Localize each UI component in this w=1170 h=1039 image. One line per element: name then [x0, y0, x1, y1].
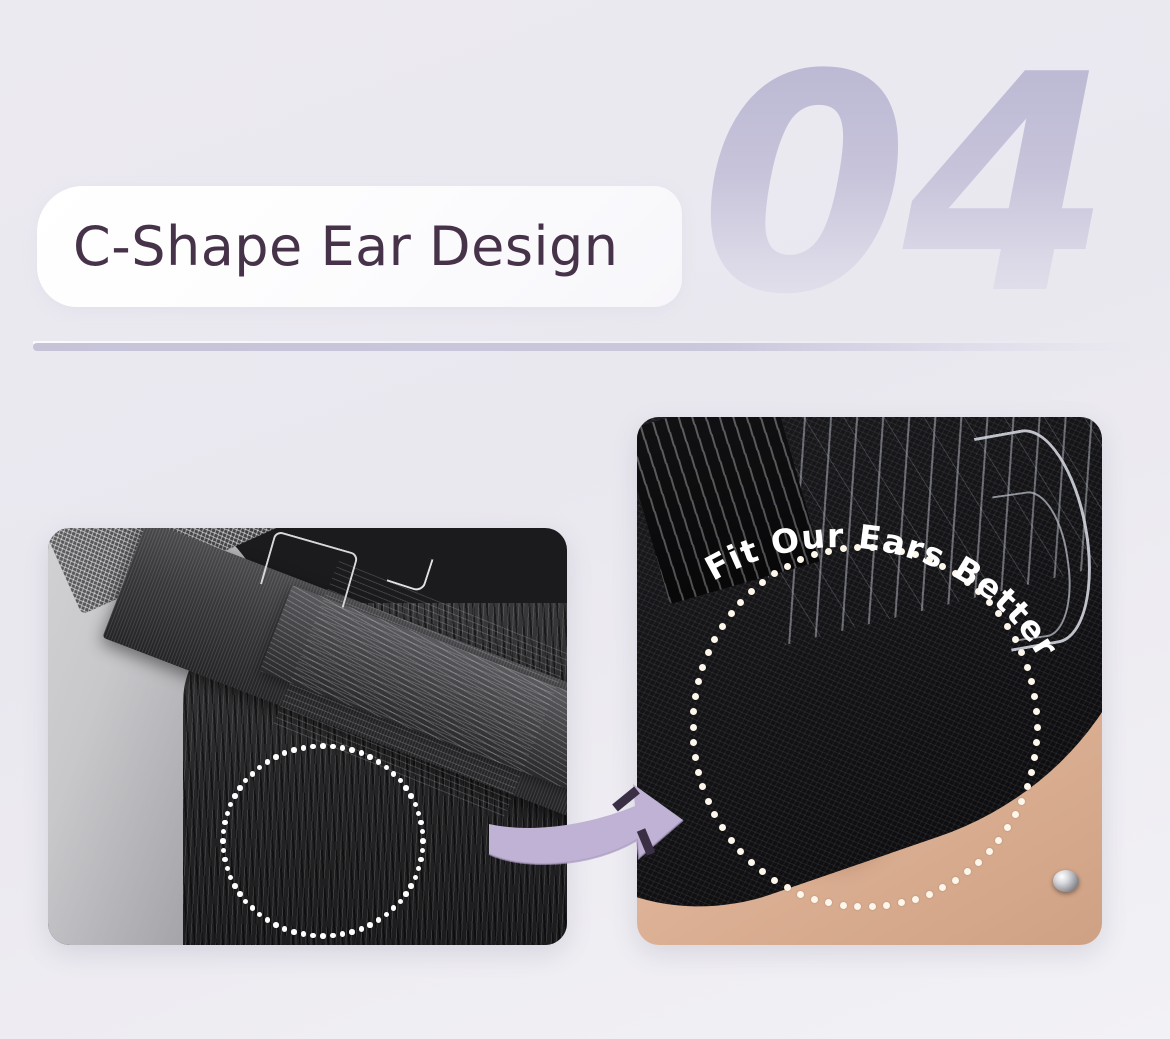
infographic-page: 04 C-Shape Ear Design [0, 0, 1170, 1039]
page-title: C-Shape Ear Design [73, 215, 618, 278]
section-divider [33, 343, 1143, 351]
right-product-photo [637, 417, 1102, 945]
earring-stud [1053, 870, 1079, 892]
left-product-photo [48, 528, 567, 945]
curved-arrow-right-icon [487, 762, 697, 882]
section-number-watermark: 04 [700, 36, 1170, 356]
